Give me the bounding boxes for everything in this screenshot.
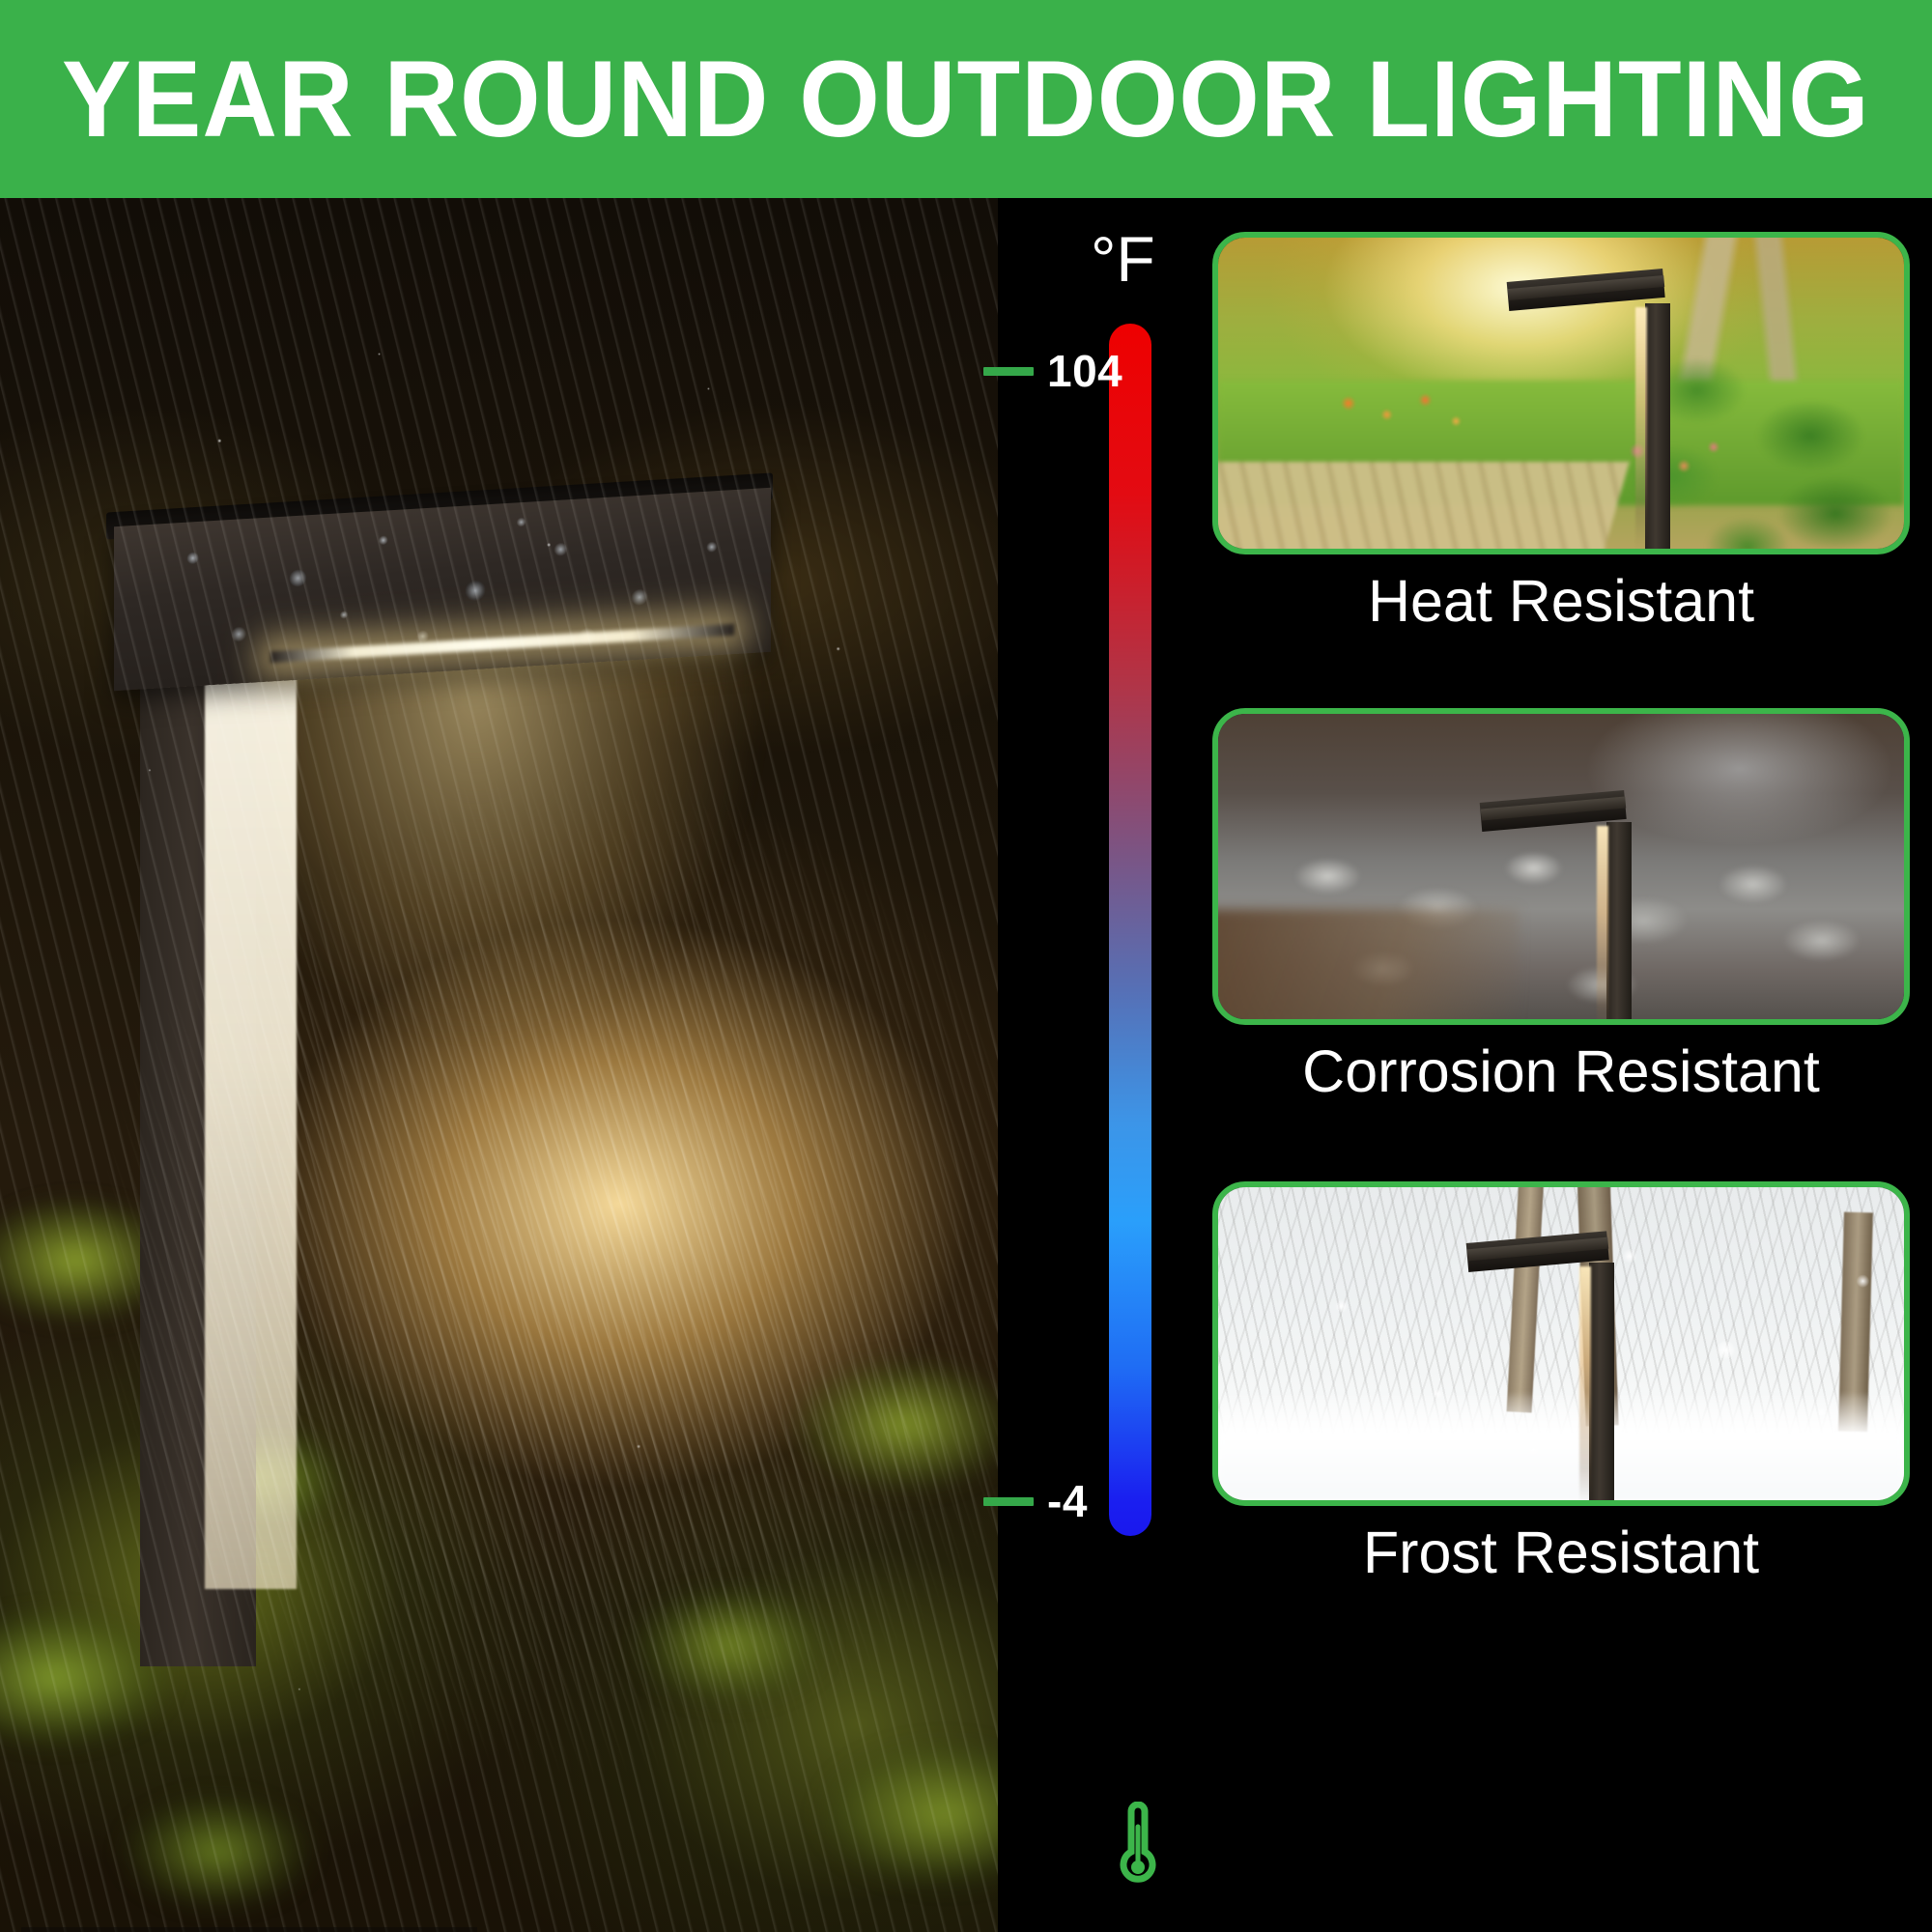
pathway-light-fixture — [1481, 803, 1674, 1025]
feature-card-corrosion-resistant[interactable]: Corrosion Resistant — [1212, 708, 1910, 1102]
pathway-light-fixture — [1467, 1243, 1661, 1504]
pathway-light-fixture — [1508, 282, 1701, 553]
fixture-post — [1606, 822, 1632, 1025]
fixture-lit-edge — [1635, 307, 1647, 549]
header-banner: YEAR ROUND OUTDOOR LIGHTING — [0, 0, 1932, 198]
feature-caption-heat-resistant: Heat Resistant — [1212, 570, 1910, 632]
feature-image-frost-resistant — [1212, 1181, 1910, 1506]
feature-image-corrosion-resistant — [1212, 708, 1910, 1025]
temperature-low-value: -4 — [1047, 1475, 1088, 1527]
garden-flowers-left — [1314, 381, 1506, 462]
fixture-lit-edge — [1597, 826, 1608, 1025]
feature-card-heat-resistant[interactable]: Heat Resistant — [1212, 232, 1910, 632]
banner-title: YEAR ROUND OUTDOOR LIGHTING — [62, 45, 1870, 154]
temperature-high-value: 104 — [1047, 345, 1122, 397]
fixture-lit-edge — [1579, 1266, 1591, 1504]
feature-caption-corrosion-resistant: Corrosion Resistant — [1212, 1040, 1910, 1102]
rocky-dirt — [1212, 909, 1520, 1025]
temperature-range-gauge: °F 104 -4 — [998, 198, 1191, 1932]
tick-dash-low — [983, 1497, 1034, 1506]
temperature-tick-high: 104 — [983, 345, 1122, 397]
fixture-post — [1589, 1263, 1614, 1506]
product-feature-infographic: YEAR ROUND OUTDOOR LIGHTING — [0, 0, 1932, 1932]
ip65-badge: IP65 Waterproof — [21, 1927, 477, 1932]
feature-card-list: Heat Resistant Corrosion Resistant — [1191, 198, 1932, 1932]
hero-rain-specks — [0, 198, 998, 1932]
thermometer-icon — [1110, 1802, 1166, 1887]
feature-image-heat-resistant — [1212, 232, 1910, 554]
temperature-unit-label: °F — [1091, 227, 1155, 291]
temperature-gradient-bar — [1109, 324, 1151, 1536]
tick-dash-high — [983, 367, 1034, 376]
fixture-post — [1645, 303, 1670, 554]
temperature-tick-low: -4 — [983, 1475, 1088, 1527]
feature-card-frost-resistant[interactable]: Frost Resistant — [1212, 1181, 1910, 1583]
hero-rain-photo: IP65 Waterproof — [0, 198, 998, 1932]
feature-caption-frost-resistant: Frost Resistant — [1212, 1521, 1910, 1583]
